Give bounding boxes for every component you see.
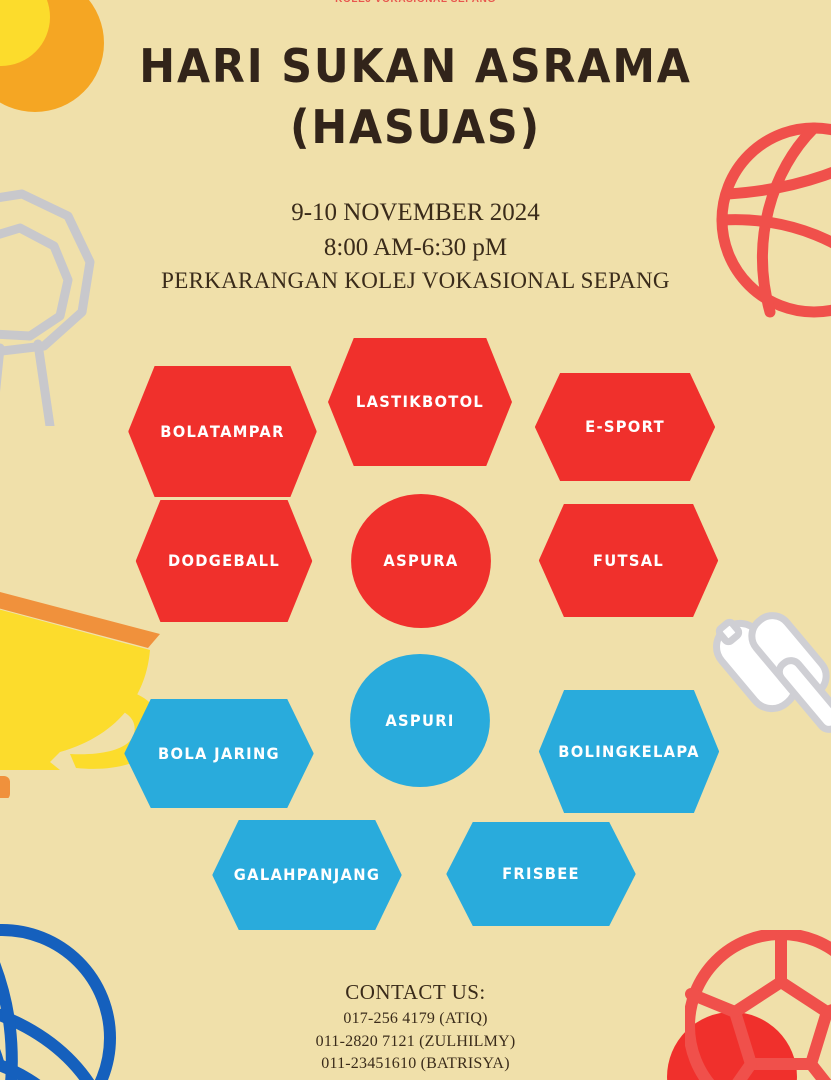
sport-aspuri[interactable]: ASPURI [350, 654, 490, 787]
event-date: 9-10 NOVEMBER 2024 [0, 196, 831, 231]
contact-phone[interactable]: 011-23451610 (BATRISYA) [0, 1053, 831, 1076]
title-line-1: HARI SUKAN ASRAMA [139, 39, 691, 93]
title-line-2: (HASUAS) [29, 97, 802, 158]
sport-dodgeball[interactable]: DODGEBALL [136, 500, 313, 622]
event-venue: PERKARANGAN KOLEJ VOKASIONAL SEPANG [0, 265, 831, 297]
sport-lastik-botol[interactable]: LASTIKBOTOL [328, 338, 512, 466]
sport-boling-kelapa[interactable]: BOLINGKELAPA [539, 690, 719, 813]
sport-futsal[interactable]: FUTSAL [539, 504, 718, 617]
sport-e-sport[interactable]: E-SPORT [535, 373, 715, 481]
page-title: HARI SUKAN ASRAMA (HASUAS) [29, 36, 802, 158]
sport-galah-panjang[interactable]: GALAHPANJANG [212, 820, 402, 930]
cropped-header-text: KOLEJ VOKASIONAL SEPANG [0, 0, 831, 5]
sport-bola-tampar[interactable]: BOLATAMPAR [128, 366, 317, 497]
sports-grid: BOLATAMPAR LASTIKBOTOL E-SPORT DODGEBALL… [0, 332, 831, 932]
contact-section: CONTACT US: 017-256 4179 (ATIQ) 011-2820… [0, 980, 831, 1076]
sport-aspura[interactable]: ASPURA [351, 494, 491, 628]
contact-heading: CONTACT US: [0, 980, 831, 1005]
contact-phone[interactable]: 011-2820 7121 (ZULHILMY) [0, 1031, 831, 1054]
sport-bola-jaring[interactable]: BOLA JARING [124, 699, 314, 808]
event-time: 8:00 AM-6:30 pM [0, 231, 831, 266]
poster-content: KOLEJ VOKASIONAL SEPANG HARI SUKAN ASRAM… [0, 0, 831, 1080]
event-details: 9-10 NOVEMBER 2024 8:00 AM-6:30 pM PERKA… [0, 196, 831, 297]
contact-phone[interactable]: 017-256 4179 (ATIQ) [0, 1008, 831, 1031]
sport-frisbee[interactable]: FRISBEE [446, 822, 636, 926]
